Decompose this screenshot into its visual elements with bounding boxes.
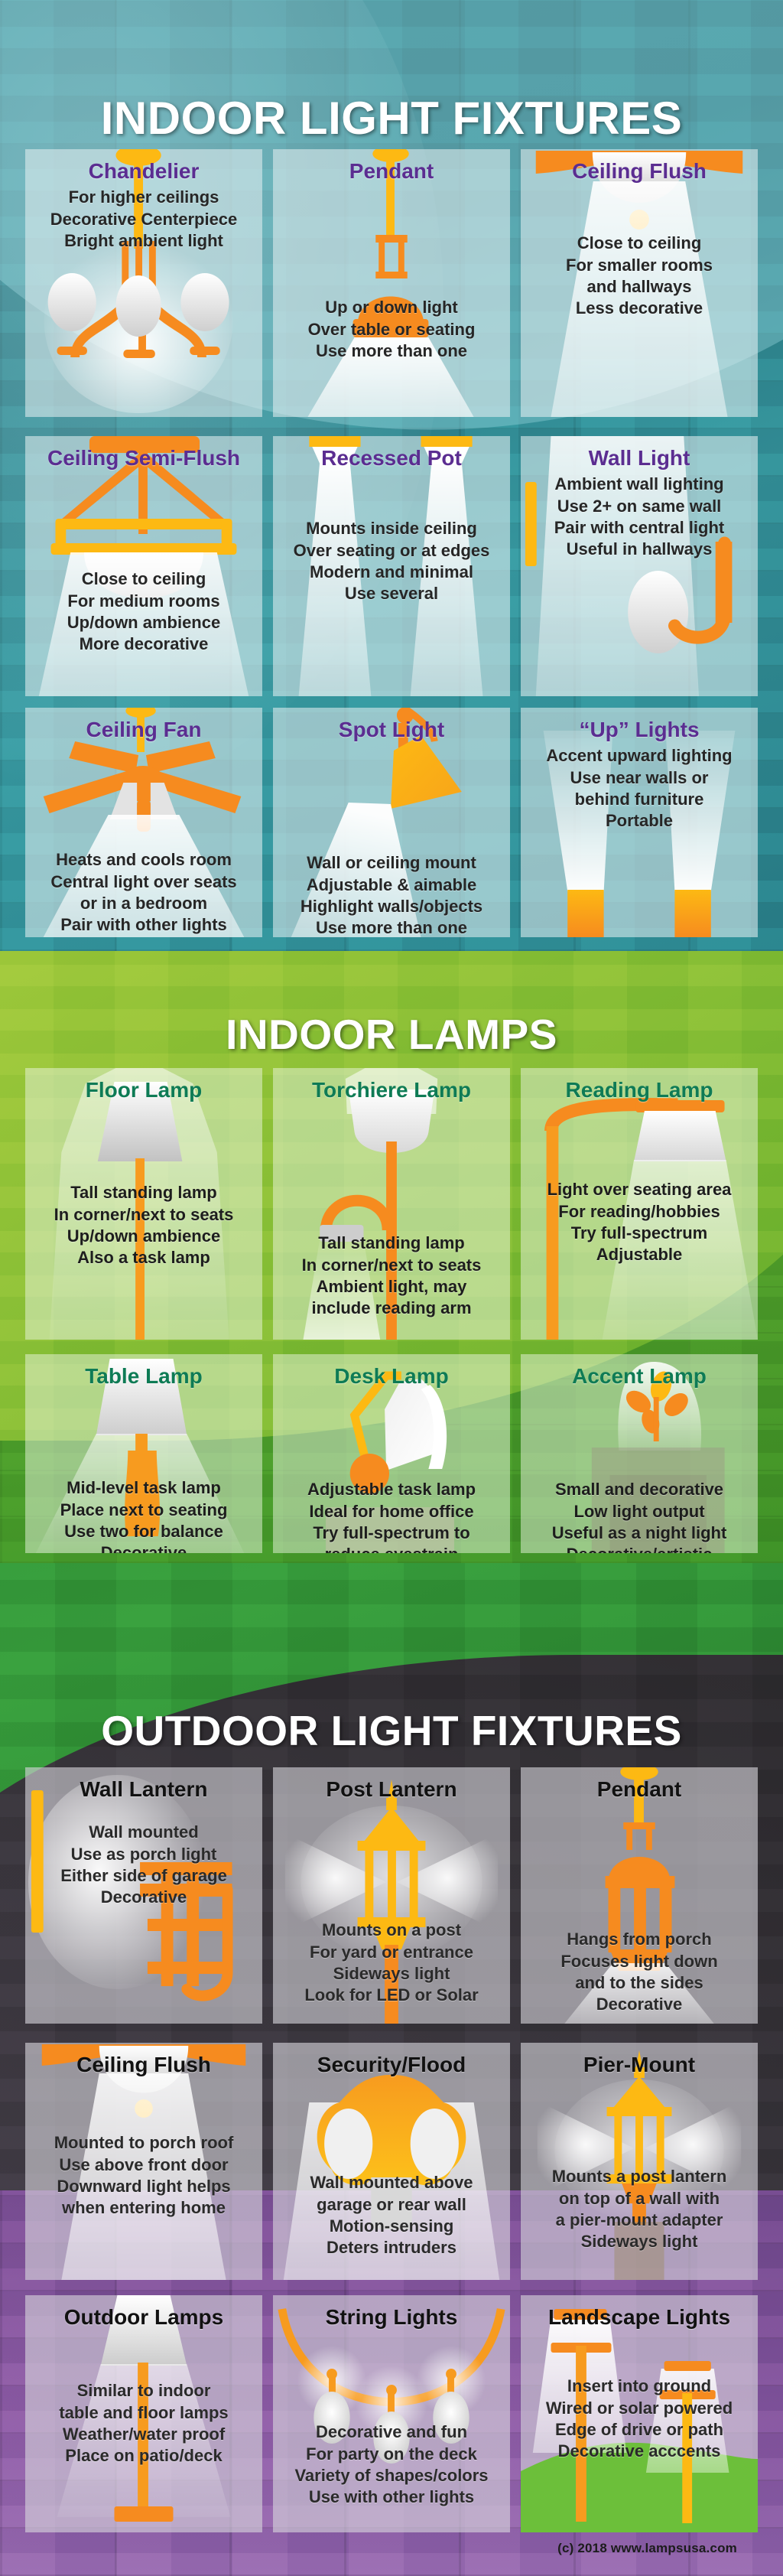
card-title: Floor Lamp — [31, 1079, 256, 1101]
card-line: Decorative acccents — [527, 2441, 752, 2462]
card-line: a pier-mount adapter — [527, 2210, 752, 2231]
card-line: Hangs from porch — [527, 1929, 752, 1950]
card-description: Tall standing lamp In corner/next to sea… — [279, 1233, 504, 1319]
card-line: Place on patio/deck — [31, 2445, 256, 2467]
card-description: Similar to indoor table and floor lamps … — [31, 2380, 256, 2467]
card-line: Ambient wall lighting — [527, 474, 752, 495]
card-title: Outdoor Lamps — [31, 2306, 256, 2328]
card-description: Wall or ceiling mount Adjustable & aimab… — [279, 852, 504, 937]
outdoor-fixtures-row-1: Wall Lantern Wall mounted Use as porch l… — [0, 1767, 783, 2024]
card-line: Similar to indoor — [31, 2380, 256, 2402]
card-line: Sideways light — [527, 2231, 752, 2252]
card-description: Decorative and fun For party on the deck… — [279, 2421, 504, 2508]
card-line: table and floor lamps — [31, 2402, 256, 2424]
card-pier-mount[interactable]: Pier-Mount Mounts a post lantern on top … — [521, 2043, 758, 2280]
card-line: Close to ceiling — [31, 568, 256, 590]
card-outdoor-lamps[interactable]: Outdoor Lamps Similar to indoor table an… — [25, 2295, 262, 2532]
card-line: Portable — [527, 810, 752, 832]
section-title-outdoor-light-fixtures: OUTDOOR LIGHT FIXTURES — [0, 1706, 783, 1755]
outdoor-fixtures-row-2: Ceiling Flush Mounted to porch roof Use … — [0, 2043, 783, 2280]
card-title: Ceiling Flush — [31, 2053, 256, 2076]
card-reading-lamp[interactable]: Reading Lamp Light over seating area For… — [521, 1068, 758, 1340]
card-title: Pier-Mount — [527, 2053, 752, 2076]
card-table-lamp[interactable]: Table Lamp Mid-level task lamp Place nex… — [25, 1354, 262, 1553]
card-title: Ceiling Fan — [31, 718, 256, 741]
card-line: For smaller rooms — [527, 255, 752, 276]
card-line: Wall or ceiling mount — [279, 852, 504, 874]
card-line: Mounts inside ceiling — [279, 518, 504, 539]
card-line: behind furniture — [527, 789, 752, 810]
card-description: Mounts on a post For yard or entrance Si… — [279, 1920, 504, 2006]
card-string-lights[interactable]: String Lights Decorative and fun For par… — [273, 2295, 510, 2532]
section-title-indoor-lamps: INDOOR LAMPS — [0, 1010, 783, 1059]
card-description: Mounted to porch roof Use above front do… — [31, 2132, 256, 2219]
card-line: Mounted to porch roof — [31, 2132, 256, 2154]
card-line: Tall standing lamp — [279, 1233, 504, 1254]
card-line: Decorative Centerpiece — [31, 209, 256, 230]
card-line: or in a bedroom — [31, 893, 256, 914]
card-line: Variety of shapes/colors — [279, 2465, 504, 2486]
card-accent-lamp[interactable]: Accent Lamp Small and decorative Low lig… — [521, 1354, 758, 1553]
card-line: Also a task lamp — [31, 1247, 256, 1268]
card-line: when entering home — [31, 2197, 256, 2219]
card-line: Try full-spectrum to — [279, 1522, 504, 1544]
card-landscape-lights[interactable]: Landscape Lights Insert into ground Wire… — [521, 2295, 758, 2532]
card-line: Decorative — [527, 1994, 752, 2015]
card-line: and to the sides — [527, 1972, 752, 1994]
card-description: Hangs from porch Focuses light down and … — [527, 1929, 752, 2015]
card-chandelier[interactable]: Chandelier For higher ceilings Decorativ… — [25, 149, 262, 417]
card-ceiling-fan[interactable]: Ceiling Fan Heats and cools room Central… — [25, 708, 262, 937]
card-outdoor-ceiling-flush[interactable]: Ceiling Flush Mounted to porch roof Use … — [25, 2043, 262, 2280]
card-line: Decorative — [31, 1887, 256, 1908]
infographic-poster: INDOOR LIGHT FIXTURES — [0, 0, 783, 2576]
indoor-fixtures-row-3: Ceiling Fan Heats and cools room Central… — [0, 708, 783, 937]
card-line: Adjustable & aimable — [279, 874, 504, 896]
card-description: Small and decorative Low light output Us… — [527, 1479, 752, 1553]
card-description: Mid-level task lamp Place next to seatin… — [31, 1477, 256, 1553]
card-description: Mounts a post lantern on top of a wall w… — [527, 2166, 752, 2252]
card-description: Mounts inside ceiling Over seating or at… — [279, 518, 504, 604]
card-line: In corner/next to seats — [279, 1255, 504, 1276]
card-title: Landscape Lights — [527, 2306, 752, 2328]
card-line: Accent upward lighting — [527, 745, 752, 767]
card-line: For party on the deck — [279, 2444, 504, 2465]
card-line: For medium rooms — [31, 591, 256, 612]
indoor-fixtures-row-1: Chandelier For higher ceilings Decorativ… — [0, 149, 783, 417]
card-line: Weather/water proof — [31, 2424, 256, 2445]
card-torchiere-lamp[interactable]: Torchiere Lamp Tall standing lamp In cor… — [273, 1068, 510, 1340]
card-line: garage or rear wall — [279, 2194, 504, 2216]
card-line: Wired or solar powered — [527, 2398, 752, 2419]
card-line: Adjustable task lamp — [279, 1479, 504, 1500]
card-line: Decorative/artistic — [527, 1544, 752, 1553]
card-line: Low light output — [527, 1501, 752, 1522]
card-line: Heats and cools room — [31, 849, 256, 871]
card-floor-lamp[interactable]: Floor Lamp Tall standing lamp In corner/… — [25, 1068, 262, 1340]
card-line: Downward light helps — [31, 2176, 256, 2197]
card-pendant[interactable]: Pendant Up or down light Over table or s… — [273, 149, 510, 417]
card-line: Deters intruders — [279, 2237, 504, 2258]
card-line: Less decorative — [527, 298, 752, 319]
card-line: Pair with central light — [527, 517, 752, 539]
card-title: Spot Light — [279, 718, 504, 741]
card-title: Post Lantern — [279, 1778, 504, 1800]
outdoor-fixtures-row-3: Outdoor Lamps Similar to indoor table an… — [0, 2295, 783, 2532]
card-description: Ambient wall lighting Use 2+ on same wal… — [527, 474, 752, 560]
card-desk-lamp[interactable]: Desk Lamp Adjustable task lamp Ideal for… — [273, 1354, 510, 1553]
card-description: Wall mounted Use as porch light Either s… — [31, 1822, 256, 1908]
card-line: Look for LED or Solar — [279, 1985, 504, 2006]
indoor-lamps-row-1: Floor Lamp Tall standing lamp In corner/… — [0, 1068, 783, 1340]
card-line: Light over seating area — [527, 1179, 752, 1200]
card-line: Over seating or at edges — [279, 540, 504, 562]
card-line: Modern and minimal — [279, 562, 504, 583]
card-line: More decorative — [31, 633, 256, 655]
card-description: Light over seating area For reading/hobb… — [527, 1179, 752, 1265]
footer-credit: (c) 2018 www.lampsusa.com — [557, 2541, 737, 2556]
card-line: Mounts a post lantern — [527, 2166, 752, 2187]
card-line: Use as porch light — [31, 1844, 256, 1865]
card-line: Edge of drive or path — [527, 2419, 752, 2441]
card-line: Use above front door — [31, 2154, 256, 2176]
card-line: Try full-spectrum — [527, 1223, 752, 1244]
card-line: Wall mounted above — [279, 2172, 504, 2193]
card-line: reduce eyestrain — [279, 1544, 504, 1553]
card-line: Close to ceiling — [527, 233, 752, 254]
card-description: For higher ceilings Decorative Centerpie… — [31, 187, 256, 251]
indoor-fixtures-row-2: Ceiling Semi-Flush Close to ceiling For … — [0, 436, 783, 696]
card-security-flood[interactable]: Security/Flood Wall mounted above garage… — [273, 2043, 510, 2280]
card-line: Decorative — [31, 1542, 256, 1553]
card-line: Adjustable — [527, 1244, 752, 1265]
card-title: String Lights — [279, 2306, 504, 2328]
card-line: Sideways light — [279, 1963, 504, 1985]
card-ceiling-semi-flush[interactable]: Ceiling Semi-Flush Close to ceiling For … — [25, 436, 262, 696]
card-line: For yard or entrance — [279, 1942, 504, 1963]
card-title: Pendant — [527, 1778, 752, 1800]
card-title: Table Lamp — [31, 1365, 256, 1387]
card-line: on top of a wall with — [527, 2188, 752, 2210]
card-title: Ceiling Semi-Flush — [31, 447, 256, 469]
card-line: Decorative and fun — [279, 2421, 504, 2443]
card-line: Small and decorative — [527, 1479, 752, 1500]
card-line: Insert into ground — [527, 2376, 752, 2397]
card-title: Accent Lamp — [527, 1365, 752, 1387]
card-line: Pair with other lights — [31, 914, 256, 936]
card-line: Wall mounted — [31, 1822, 256, 1843]
card-description: Tall standing lamp In corner/next to sea… — [31, 1182, 256, 1268]
card-title: Recessed Pot — [279, 447, 504, 469]
card-description: Heats and cools room Central light over … — [31, 849, 256, 936]
card-line: include reading arm — [279, 1298, 504, 1319]
card-title: Reading Lamp — [527, 1079, 752, 1101]
card-recessed-pot[interactable]: Recessed Pot Mounts inside ceiling Over … — [273, 436, 510, 696]
card-line: Useful in hallways — [527, 539, 752, 560]
card-line: Bright ambient light — [31, 230, 256, 252]
card-line: Use two for balance — [31, 1521, 256, 1542]
card-post-lantern[interactable]: Post Lantern Mounts on a post For yard o… — [273, 1767, 510, 2024]
card-description: Wall mounted above garage or rear wall M… — [279, 2172, 504, 2258]
card-title: Desk Lamp — [279, 1365, 504, 1387]
card-title: Wall Light — [527, 447, 752, 469]
card-line: Tall standing lamp — [31, 1182, 256, 1203]
card-title: Security/Flood — [279, 2053, 504, 2076]
card-title: Ceiling Flush — [527, 160, 752, 182]
card-up-lights[interactable]: “Up” Lights Accent upward lighting Use n… — [521, 708, 758, 937]
card-line: In corner/next to seats — [31, 1204, 256, 1226]
card-line: Use several — [279, 583, 504, 604]
card-line: Use more than one — [279, 340, 504, 362]
card-wall-lantern[interactable]: Wall Lantern Wall mounted Use as porch l… — [25, 1767, 262, 2024]
card-line: Ideal for home office — [279, 1501, 504, 1522]
card-line: Use 2+ on same wall — [527, 496, 752, 517]
card-line: Focuses light down — [527, 1951, 752, 1972]
card-line: Over table or seating — [279, 319, 504, 340]
card-line: Place next to seating — [31, 1500, 256, 1521]
card-line: Mid-level task lamp — [31, 1477, 256, 1499]
card-line: Use with other lights — [279, 2486, 504, 2508]
card-line: For higher ceilings — [31, 187, 256, 208]
section-title-indoor-light-fixtures: INDOOR LIGHT FIXTURES — [0, 92, 783, 145]
card-title: Wall Lantern — [31, 1778, 256, 1800]
card-title: “Up” Lights — [527, 718, 752, 741]
card-description: Close to ceiling For medium rooms Up/dow… — [31, 568, 256, 655]
card-description: Adjustable task lamp Ideal for home offi… — [279, 1479, 504, 1553]
pendant-icon — [273, 149, 510, 417]
card-ceiling-flush[interactable]: Ceiling Flush Close to ceiling For small… — [521, 149, 758, 417]
card-line: Central light over seats — [31, 871, 256, 893]
card-description: Accent upward lighting Use near walls or… — [527, 745, 752, 832]
card-line: Up/down ambience — [31, 1226, 256, 1247]
card-description: Insert into ground Wired or solar powere… — [527, 2376, 752, 2462]
card-line: Highlight walls/objects — [279, 896, 504, 917]
card-line: Ambient light, may — [279, 1276, 504, 1298]
card-title: Torchiere Lamp — [279, 1079, 504, 1101]
card-line: Either side of garage — [31, 1865, 256, 1887]
card-title: Chandelier — [31, 160, 256, 182]
card-line: For reading/hobbies — [527, 1201, 752, 1223]
card-description: Close to ceiling For smaller rooms and h… — [527, 233, 752, 319]
card-line: Mounts on a post — [279, 1920, 504, 1941]
card-line: Up/down ambience — [31, 612, 256, 633]
card-title: Pendant — [279, 160, 504, 182]
card-description: Up or down light Over table or seating U… — [279, 297, 504, 361]
card-line: Motion-sensing — [279, 2216, 504, 2237]
card-line: Use near walls or — [527, 767, 752, 789]
card-line: Up or down light — [279, 297, 504, 318]
card-line: Useful as a night light — [527, 1522, 752, 1544]
card-wall-light[interactable]: Wall Light Ambient wall lighting Use 2+ … — [521, 436, 758, 696]
card-line: Use more than one — [279, 917, 504, 937]
card-outdoor-pendant[interactable]: Pendant Hangs from porch Focuses light d… — [521, 1767, 758, 2024]
ceiling-semi-flush-icon — [25, 436, 262, 696]
card-line: and hallways — [527, 276, 752, 298]
indoor-lamps-row-2: Table Lamp Mid-level task lamp Place nex… — [0, 1354, 783, 1553]
card-spot-light[interactable]: Spot Light Wall or ceiling mount Adjusta… — [273, 708, 510, 937]
